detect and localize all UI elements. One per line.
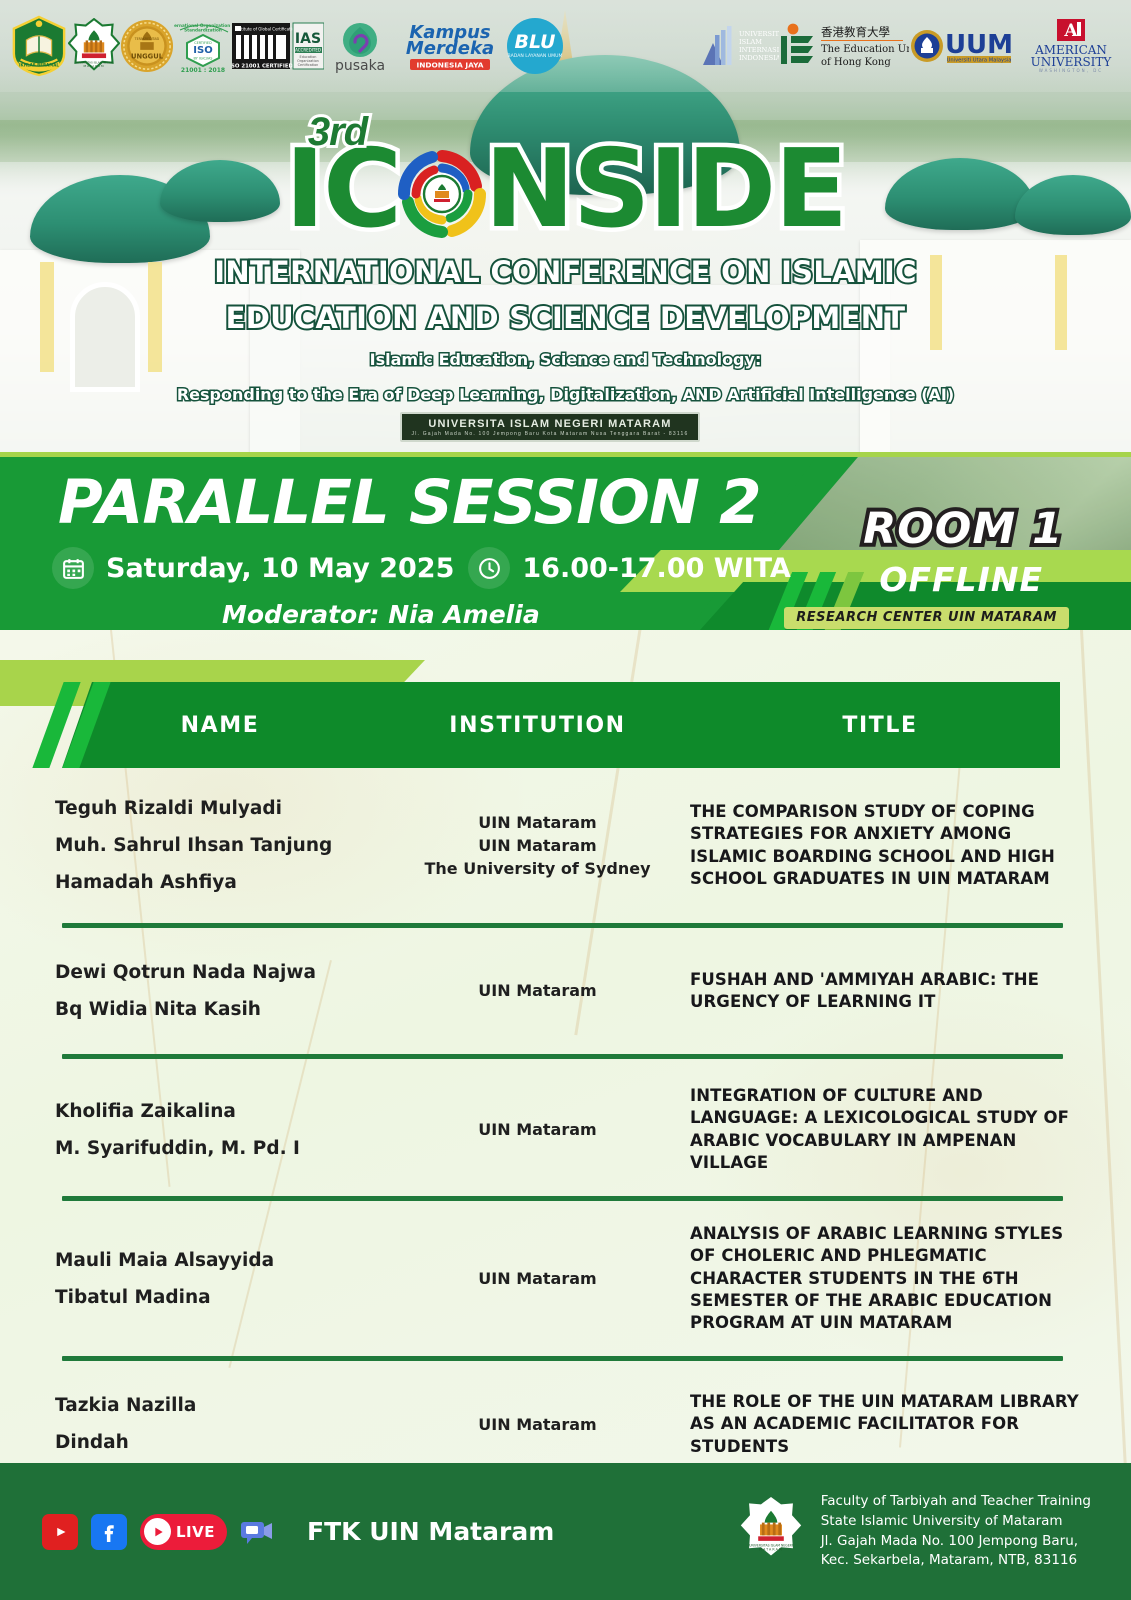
svg-text:IKHLAS BERAMAL: IKHLAS BERAMAL xyxy=(19,62,59,67)
uin-mataram-logo: UNIVERSITAS ISLAM NEGERI MATARAM xyxy=(68,18,120,74)
presenter-name: M. Syarifuddin, M. Pd. I xyxy=(55,1130,379,1167)
row-spacer xyxy=(0,1334,1131,1356)
table-header-labels: NAME INSTITUTION TITLE xyxy=(0,682,1131,768)
igic-ias-logo: Institute of Global Certification ISO 21… xyxy=(232,21,324,71)
clock-icon xyxy=(468,547,510,589)
svg-text:UNIVERSITY: UNIVERSITY xyxy=(1031,55,1113,69)
faculty-address: Faculty of Tarbiyah and Teacher Training… xyxy=(821,1492,1091,1572)
row-institutions: UIN Mataram UIN Mataram The University o… xyxy=(385,811,690,881)
faculty-line-3: Jl. Gajah Mada No. 100 Jempong Baru, xyxy=(821,1532,1091,1552)
row-spacer xyxy=(0,901,1131,923)
session-moderator: Moderator: Nia Amelia xyxy=(222,600,540,629)
svg-text:Certification: Certification xyxy=(298,63,319,67)
svg-text:A: A xyxy=(1063,21,1078,41)
institution: UIN Mataram xyxy=(385,834,690,857)
column-header-institution: INSTITUTION xyxy=(385,713,690,738)
row-spacer xyxy=(0,1201,1131,1223)
iconside-emblem-icon xyxy=(394,146,490,242)
row-spacer xyxy=(0,1174,1131,1196)
campus-signboard: UNIVERSITA ISLAM NEGERI MATARAM Jl. Gaja… xyxy=(400,412,700,442)
paper-title: ANALYSIS OF ARABIC LEARNING STYLES OF CH… xyxy=(690,1223,1090,1334)
table-row: Tazkia Nazilla Dindah UIN Mataram THE RO… xyxy=(0,1387,1131,1461)
poster-footer: LIVE FTK UIN Mataram xyxy=(0,1463,1131,1600)
row-names: Dewi Qotrun Nada Najwa Bq Widia Nita Kas… xyxy=(55,954,385,1028)
table-row: Kholifia Zaikalina M. Syarifuddin, M. Pd… xyxy=(0,1085,1131,1174)
faculty-line-4: Kec. Sekarbela, Mataram, NTB, 83116 xyxy=(821,1551,1091,1571)
brand-text-right: NSIDE xyxy=(484,139,846,242)
presenter-name: Hamadah Ashfiya xyxy=(55,864,379,901)
uum-logo: UUM Universiti Utara Malaysia xyxy=(909,21,1021,71)
svg-text:UUM: UUM xyxy=(945,30,1013,60)
session-title: PARALLEL SESSION 2 xyxy=(58,467,761,538)
conference-name-line1: INTERNATIONAL CONFERENCE ON ISLAMIC xyxy=(0,256,1131,288)
svg-text:MATARAM: MATARAM xyxy=(83,64,104,68)
row-institutions: UIN Mataram xyxy=(385,1267,690,1290)
american-university-logo: A AMERICAN UNIVERSITY WASHINGTON, DC xyxy=(1021,18,1121,74)
presenter-name: Bq Widia Nita Kasih xyxy=(55,991,379,1028)
row-names: Kholifia Zaikalina M. Syarifuddin, M. Pd… xyxy=(55,1093,385,1167)
svg-text:Institute of Global Certificat: Institute of Global Certification xyxy=(235,27,297,32)
venue-badge: RESEARCH CENTER UIN MATARAM xyxy=(784,607,1069,629)
row-spacer xyxy=(0,928,1131,954)
svg-text:BADAN LAYANAN UMUM: BADAN LAYANAN UMUM xyxy=(508,53,563,59)
table-row: Teguh Rizaldi Mulyadi Muh. Sahrul Ihsan … xyxy=(0,790,1131,901)
svg-text:of Hong Kong: of Hong Kong xyxy=(821,57,891,68)
eduhk-logo: 香港教育大學 The Education University of Hong … xyxy=(779,20,909,72)
svg-text:IAS: IAS xyxy=(295,31,321,47)
theme-line2: Responding to the Era of Deep Learning, … xyxy=(0,384,1131,406)
svg-text:UNIVERSITAS: UNIVERSITAS xyxy=(739,30,779,38)
row-institutions: UIN Mataram xyxy=(385,1413,690,1436)
paper-title: THE COMPARISON STUDY OF COPING STRATEGIE… xyxy=(690,801,1090,890)
svg-text:MATARAM: MATARAM xyxy=(759,1547,783,1551)
blu-logo: BLU BADAN LAYANAN UMUM xyxy=(504,17,566,75)
row-names: Teguh Rizaldi Mulyadi Muh. Sahrul Ihsan … xyxy=(55,790,385,901)
session-date: Saturday, 10 May 2025 xyxy=(106,553,454,584)
faculty-line-2: State Islamic University of Mataram xyxy=(821,1512,1091,1532)
mode-label: OFFLINE xyxy=(879,560,1043,599)
svg-text:TERAKREDITASI: TERAKREDITASI xyxy=(134,37,160,41)
paper-title: INTEGRATION OF CULTURE AND LANGUAGE: A L… xyxy=(690,1085,1090,1174)
calendar-icon xyxy=(52,547,94,589)
institution: UIN Mataram xyxy=(385,979,690,1002)
column-header-title: TITLE xyxy=(690,713,1070,738)
institution: UIN Mataram xyxy=(385,811,690,834)
iconside-wordmark: IC xyxy=(0,139,1131,242)
conference-title-block: 3rd IC xyxy=(0,110,1131,406)
table-row: Dewi Qotrun Nada Najwa Bq Widia Nita Kas… xyxy=(0,954,1131,1028)
row-names: Mauli Maia Alsayyida Tibatul Madina xyxy=(55,1242,385,1316)
signboard-line2: Jl. Gajah Mada No. 100 Jempong Baru Kota… xyxy=(412,431,689,437)
svg-text:ISO: ISO xyxy=(193,45,212,56)
faculty-line-1: Faculty of Tarbiyah and Teacher Training xyxy=(821,1492,1091,1512)
session-banner: PARALLEL SESSION 2 Saturday, 10 May 2025 xyxy=(0,452,1131,630)
session-meta-row: Saturday, 10 May 2025 16.00-17.00 WITA xyxy=(52,547,791,589)
faculty-info: UNIVERSITAS ISLAM NEGERI MATARAM Faculty… xyxy=(739,1492,1091,1572)
row-institutions: UIN Mataram xyxy=(385,1118,690,1141)
svg-text:Standardization: Standardization xyxy=(184,28,222,33)
kemenag-logo: IKHLAS BERAMAL xyxy=(10,15,68,77)
svg-text:UNGGUL: UNGGUL xyxy=(131,53,164,61)
presenter-name: Kholifia Zaikalina xyxy=(55,1093,379,1130)
row-spacer xyxy=(0,1059,1131,1085)
svg-text:ISLAM: ISLAM xyxy=(739,38,762,46)
social-handle: FTK UIN Mataram xyxy=(307,1517,554,1546)
row-spacer xyxy=(0,1028,1131,1054)
facebook-icon[interactable] xyxy=(91,1514,127,1550)
presenter-name: Tibatul Madina xyxy=(55,1279,379,1316)
institution: UIN Mataram xyxy=(385,1267,690,1290)
svg-text:香港教育大學: 香港教育大學 xyxy=(821,25,890,39)
svg-text:BY IGIC/IAS: BY IGIC/IAS xyxy=(194,57,213,61)
video-camera-icon[interactable] xyxy=(240,1514,276,1550)
room-label: ROOM 1 xyxy=(863,504,1063,554)
svg-text:WASHINGTON, DC: WASHINGTON, DC xyxy=(1039,68,1103,73)
presenter-name: Tazkia Nazilla xyxy=(55,1387,379,1424)
pusaka-logo: pusaka xyxy=(324,18,396,74)
table-row: Mauli Maia Alsayyida Tibatul Madina UIN … xyxy=(0,1223,1131,1334)
svg-text:INDONESIA JAYA: INDONESIA JAYA xyxy=(416,60,483,69)
column-header-name: NAME xyxy=(55,713,385,738)
presenter-name: Dewi Qotrun Nada Najwa xyxy=(55,954,379,991)
svg-text:pusaka: pusaka xyxy=(335,58,385,74)
institution: UIN Mataram xyxy=(385,1413,690,1436)
presenter-name: Muh. Sahrul Ihsan Tanjung xyxy=(55,827,379,864)
session-time-item: 16.00-17.00 WITA xyxy=(468,547,790,589)
conference-name-line2: EDUCATION AND SCIENCE DEVELOPMENT xyxy=(0,302,1131,334)
svg-text:BLU: BLU xyxy=(515,31,557,53)
theme-line1: Islamic Education, Science and Technolog… xyxy=(0,349,1131,371)
live-badge[interactable]: LIVE xyxy=(140,1514,227,1550)
svg-text:Universiti Utara Malaysia: Universiti Utara Malaysia xyxy=(947,58,1012,64)
row-institutions: UIN Mataram xyxy=(385,979,690,1002)
table-body: Teguh Rizaldi Mulyadi Muh. Sahrul Ihsan … xyxy=(0,790,1131,1465)
signboard-line1: UNIVERSITA ISLAM NEGERI MATARAM xyxy=(428,418,671,430)
play-icon xyxy=(144,1518,171,1545)
institution: UIN Mataram xyxy=(385,1118,690,1141)
partner-logo-bar: IKHLAS BERAMAL UNIVERSITAS ISLAM NEGERI … xyxy=(0,0,1131,92)
svg-text:ISO 21001 CERTIFIED: ISO 21001 CERTIFIED xyxy=(232,63,294,69)
kampus-merdeka-logo: Kampus Merdeka INDONESIA JAYA xyxy=(396,20,504,72)
institution: The University of Sydney xyxy=(385,857,690,880)
unggul-accreditation-logo: TERAKREDITASI UNGGUL xyxy=(120,19,174,73)
live-label: LIVE xyxy=(176,1523,215,1541)
uii-logo: UNIVERSITAS ISLAM INTERNASIONAL INDONESI… xyxy=(699,19,779,73)
conference-poster: UNIVERSITA ISLAM NEGERI MATARAM Jl. Gaja… xyxy=(0,0,1131,1600)
youtube-icon[interactable] xyxy=(42,1514,78,1550)
svg-text:21001 : 2018: 21001 : 2018 xyxy=(181,67,225,74)
svg-text:INTERNASIONAL: INTERNASIONAL xyxy=(739,46,779,54)
social-links: LIVE FTK UIN Mataram xyxy=(42,1514,554,1550)
presenter-name: Dindah xyxy=(55,1424,379,1461)
banner-top-rule xyxy=(0,452,1131,457)
paper-title: FUSHAH AND 'AMMIYAH ARABIC: THE URGENCY … xyxy=(690,969,1090,1014)
presenter-table: NAME INSTITUTION TITLE Teguh Rizaldi Mul… xyxy=(0,630,1131,1465)
edition-ordinal: 3rd xyxy=(308,110,367,155)
session-date-item: Saturday, 10 May 2025 xyxy=(52,547,454,589)
row-names: Tazkia Nazilla Dindah xyxy=(55,1387,385,1461)
svg-text:The Education University: The Education University xyxy=(821,44,909,55)
presenter-name: Teguh Rizaldi Mulyadi xyxy=(55,790,379,827)
presenter-name: Mauli Maia Alsayyida xyxy=(55,1242,379,1279)
uin-mataram-footer-logo: UNIVERSITAS ISLAM NEGERI MATARAM xyxy=(739,1495,803,1568)
session-time: 16.00-17.00 WITA xyxy=(522,553,790,584)
row-spacer xyxy=(0,1361,1131,1387)
paper-title: THE ROLE OF THE UIN MATARAM LIBRARY AS A… xyxy=(690,1391,1090,1458)
svg-text:ACCREDITED: ACCREDITED xyxy=(295,48,321,53)
svg-text:Merdeka: Merdeka xyxy=(406,38,494,59)
iso-21001-logo: International Organization for Standardi… xyxy=(174,18,232,74)
svg-text:INDONESIA: INDONESIA xyxy=(739,54,779,62)
